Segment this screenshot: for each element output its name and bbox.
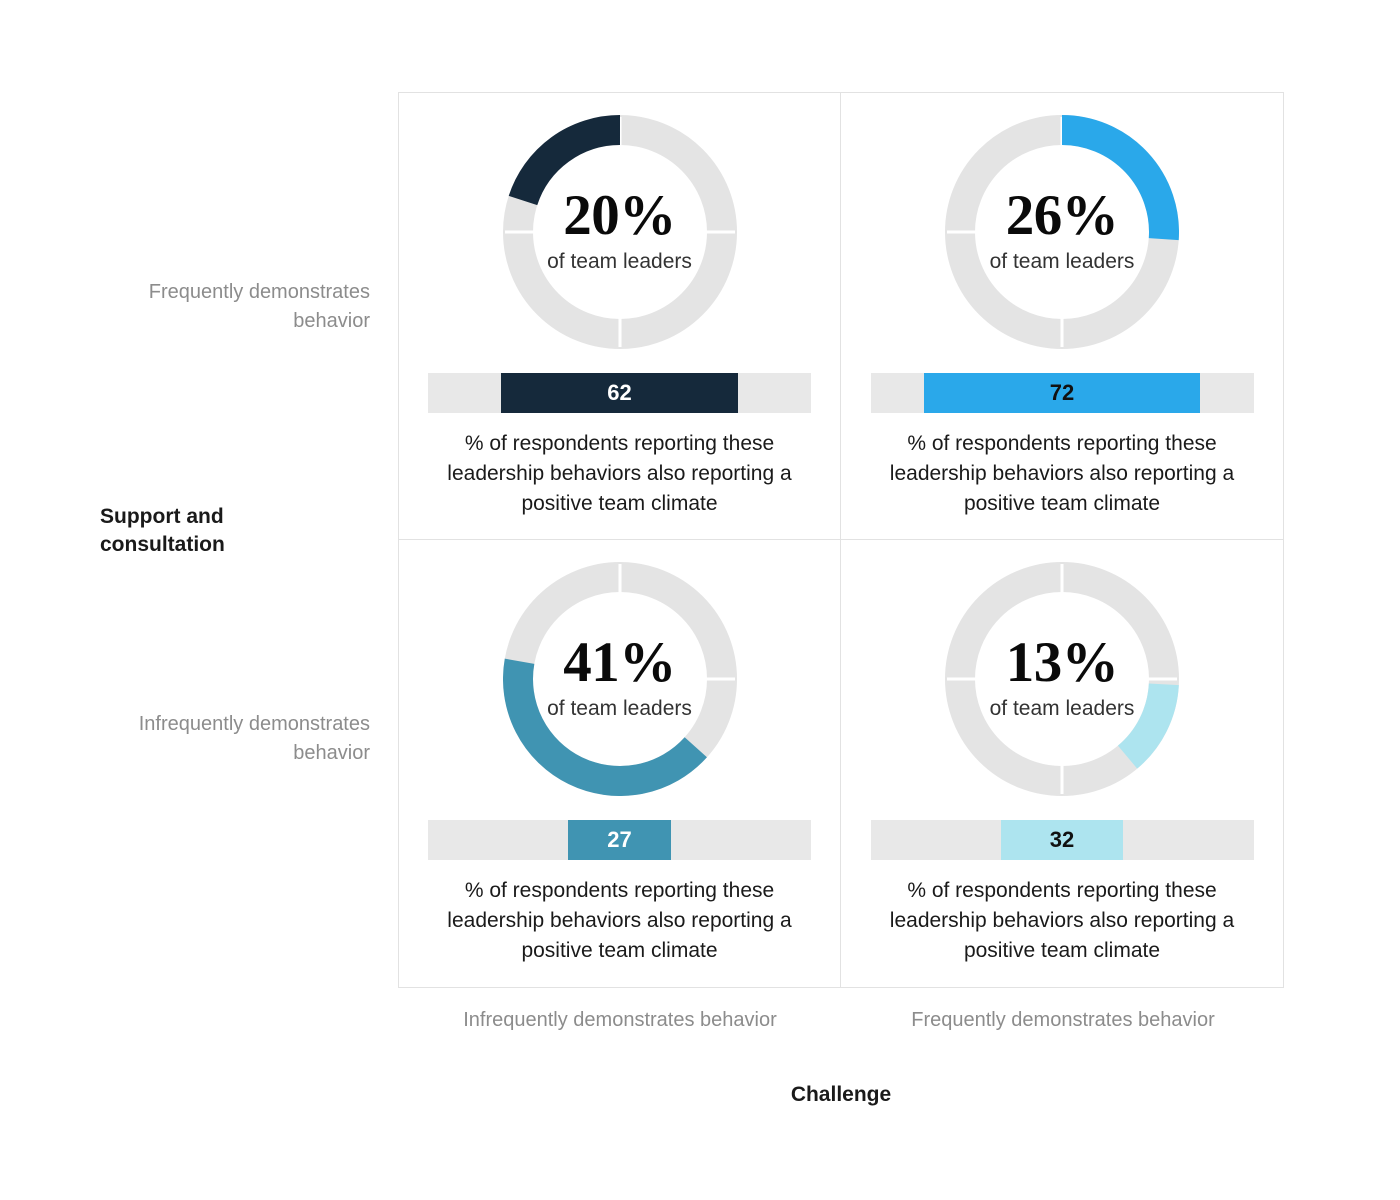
donut-gauge: 41% of team leaders (503, 562, 737, 796)
bar-value-label: 72 (1050, 380, 1074, 406)
donut-value-arc (1128, 684, 1164, 757)
quadrant-grid: 20% of team leaders 62 % of respondents … (398, 92, 1284, 988)
y-tick-label-top: Frequently demonstrates behavior (110, 278, 370, 336)
bar-value-label: 27 (607, 827, 631, 853)
bar-track: 62 (428, 373, 811, 413)
donut-gauge: 26% of team leaders (945, 115, 1179, 349)
quadrant-caption: % of respondents reporting these leaders… (430, 876, 810, 965)
quadrant-caption: % of respondents reporting these leaders… (872, 429, 1252, 518)
bar-track: 27 (428, 820, 811, 860)
quadrant-cell-top-left: 20% of team leaders 62 % of respondents … (399, 93, 841, 540)
donut-value-arc (522, 130, 619, 200)
bar-track: 72 (871, 373, 1254, 413)
x-tick-label-right: Frequently demonstrates behavior (853, 1006, 1273, 1035)
y-tick-label-bottom: Infrequently demonstrates behavior (110, 710, 370, 768)
quadrant-chart: Frequently demonstrates behavior Infrequ… (0, 0, 1400, 1200)
x-tick-label-left: Infrequently demonstrates behavior (410, 1006, 830, 1035)
donut-svg (945, 115, 1179, 349)
quadrant-caption: % of respondents reporting these leaders… (430, 429, 810, 518)
quadrant-cell-bottom-right: 13% of team leaders 32 % of respondents … (841, 540, 1283, 987)
x-axis-title: Challenge (398, 1083, 1284, 1107)
donut-value-arc (1062, 130, 1164, 239)
bar-fill: 32 (1001, 820, 1124, 860)
quadrant-cell-bottom-left: 41% of team leaders 27 % of respondents … (399, 540, 841, 987)
bar-value-label: 32 (1050, 827, 1074, 853)
quadrant-cell-top-right: 26% of team leaders 72 % of respondents … (841, 93, 1283, 540)
bar-fill: 72 (924, 373, 1200, 413)
bar-value-label: 62 (607, 380, 631, 406)
donut-svg (503, 562, 737, 796)
y-axis-title: Support and consultation (100, 503, 340, 560)
quadrant-caption: % of respondents reporting these leaders… (872, 876, 1252, 965)
bar-fill: 27 (568, 820, 671, 860)
donut-svg (503, 115, 737, 349)
donut-value-arc (518, 661, 696, 781)
bar-fill: 62 (501, 373, 738, 413)
donut-gauge: 13% of team leaders (945, 562, 1179, 796)
bar-track: 32 (871, 820, 1254, 860)
donut-gauge: 20% of team leaders (503, 115, 737, 349)
donut-svg (945, 562, 1179, 796)
